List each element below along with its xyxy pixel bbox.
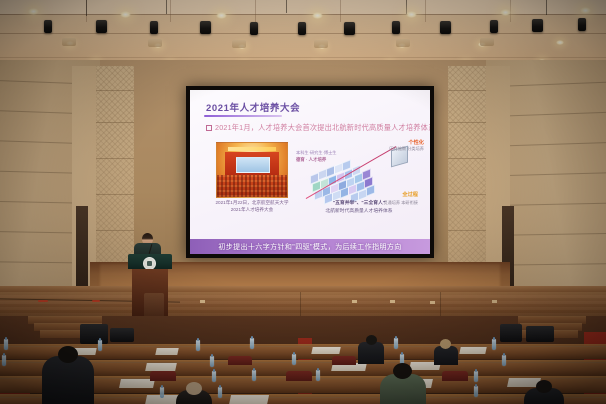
conference-photo [216,142,288,198]
stage-spotlight [578,18,586,31]
stage-spotlight [532,19,543,32]
stage-spotlight [150,21,158,34]
audience-member [42,356,94,404]
av-mixer [110,328,134,342]
diagram-label-left-2: 德育 · 人才培养 [296,157,326,164]
stage-spotlight [490,20,498,33]
podium [128,254,172,316]
stage-spotlight [392,21,400,34]
audience-member [524,388,564,404]
photo-caption: 2021年1月22日，北京航空航天大学 2021年人才培养大会 [212,200,292,214]
stage-spotlight [96,20,107,33]
title-underline [204,115,282,117]
conference-hall-photo: 2021年人才培养大会 2021年1月，人才培养大会首次提出北航新时代高质量人才… [0,0,606,404]
square-bullet-icon [206,125,212,131]
av-speaker [500,324,522,342]
audience-member [380,374,426,404]
presentation-slide: 2021年人才培养大会 2021年1月，人才培养大会首次提出北航新时代高质量人才… [190,90,430,254]
slide-bullet: 2021年1月，人才培养大会首次提出北航新时代高质量人才培养体系 [206,123,430,133]
audience-member [176,390,212,404]
stage-spotlight [344,22,355,35]
stage-spotlight [200,21,211,34]
diagram-caption-line1: "五育并举"、"三全育人" [296,200,422,208]
diagram-label-left-1: 本科生·研究生·博士生 [296,150,336,156]
audience-seating [0,316,606,404]
slide-title: 2021年人才培养大会 [206,100,300,114]
stage-spotlight [298,22,306,35]
photo-banner [228,147,276,151]
stage-spotlight [250,22,258,35]
av-speaker [80,324,108,344]
diagram-caption: "五育并举"、"三全育人" 北航新时代高质量人才培养体系 [296,200,422,215]
audience-member [358,342,384,364]
av-console [526,326,554,342]
photo-projection [236,157,270,173]
cube-diagram: 个性化 因材施教 分类培养 全过程 贯通培养 本研衔接 本科生·研究生·博士生 … [300,142,424,204]
diagram-sublabel-top: 因材施教 分类培养 [389,146,424,152]
slide-banner-text: 初步提出十六字方针和"四驱"模式，为后续工作指明方向 [218,242,401,252]
podium-body [132,269,168,316]
photo-audience [217,175,287,197]
cube-cluster [308,158,384,202]
diagram-caption-line2: 北航新时代高质量人才培养体系 [296,208,422,216]
stage-spotlight [440,21,451,34]
slide-bullet-text: 2021年1月，人才培养大会首次提出北航新时代高质量人才培养体系 [215,123,430,133]
projection-screen: 2021年人才培养大会 2021年1月，人才培养大会首次提出北航新时代高质量人才… [186,86,434,258]
audience-member [434,346,458,365]
stage-spotlight [44,20,52,33]
slide-banner: 初步提出十六字方针和"四驱"模式，为后续工作指明方向 [190,239,430,254]
podium-top [128,254,172,269]
